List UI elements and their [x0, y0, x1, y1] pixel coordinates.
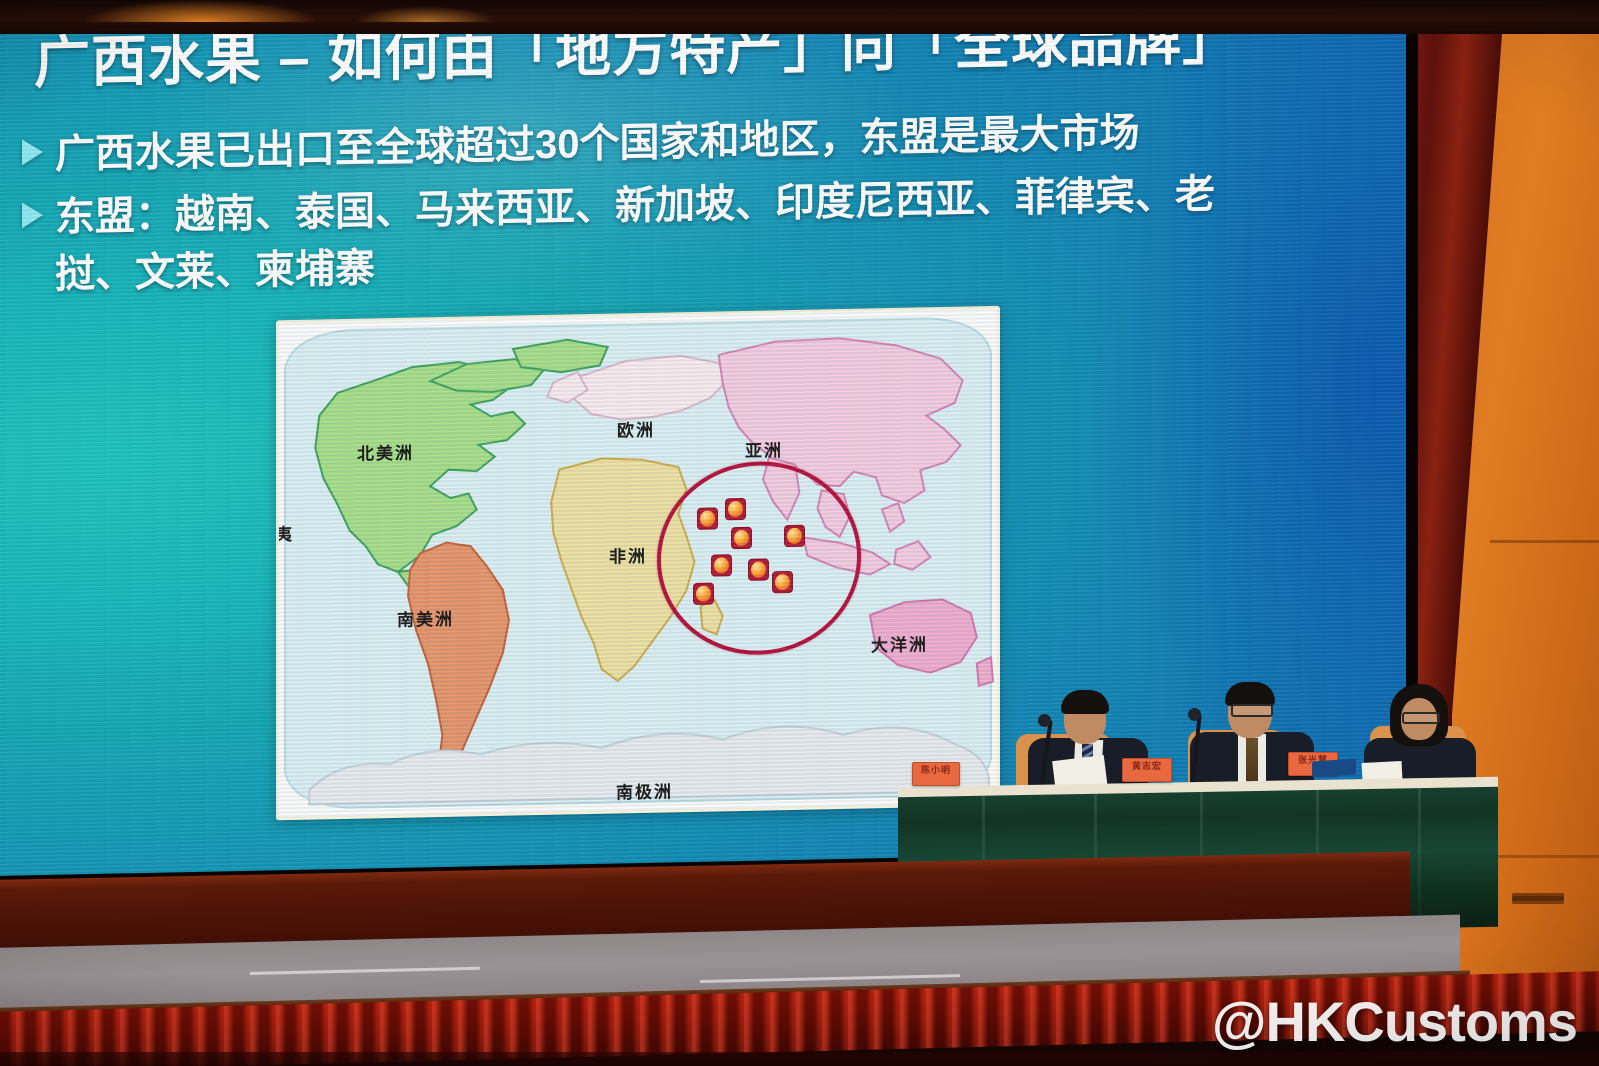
slide-bullet-list: 广西水果已出口至全球超过30个国家和地区，东盟是最大市场 东盟：越南、泰国、马来…	[22, 102, 1282, 310]
eyeglasses-icon	[1231, 704, 1273, 717]
name-placard: 黄志宏	[1122, 758, 1172, 782]
ceiling-light-glow	[356, 6, 496, 22]
fruit-marker	[697, 507, 718, 529]
speaker-hair	[1061, 690, 1109, 714]
map-label-africa: 非洲	[609, 542, 647, 568]
triangle-right-icon	[22, 202, 43, 228]
map-label-south-america: 南美洲	[397, 605, 454, 631]
map-label-europe: 欧洲	[617, 416, 655, 442]
fruit-marker	[748, 558, 769, 580]
triangle-right-icon	[22, 139, 43, 165]
fruit-marker	[784, 525, 805, 547]
name-placard: 陈小明	[912, 762, 960, 786]
map-label-north-america: 北美洲	[357, 439, 414, 465]
fruit-marker	[711, 554, 732, 576]
eyeglasses-icon	[1402, 712, 1440, 724]
ceiling-light-glow	[86, 0, 316, 22]
placard-text: 黄志宏	[1123, 759, 1171, 775]
stage-apron-shadow	[0, 1052, 1599, 1066]
fruit-marker	[725, 498, 746, 520]
wall-seam	[1490, 540, 1599, 543]
map-label-asia: 亚洲	[745, 436, 783, 462]
wall-seam-lower	[1490, 855, 1599, 858]
laptop-device	[1312, 758, 1356, 777]
photo-canvas: 广西水果 – 如何由「地方特产」向「全球品牌」 广西水果已出口至全球超过30个国…	[0, 0, 1599, 1066]
speaker-tie	[1246, 738, 1258, 784]
fruit-marker	[693, 583, 714, 605]
placard-text: 陈小明	[913, 763, 959, 779]
world-map-figure: 北美洲 夷 南美洲 欧洲 非洲 亚洲 大洋洲 南极洲	[276, 306, 1000, 821]
bullet-text: 东盟：越南、泰国、马来西亚、新加坡、印度尼西亚、菲律宾、老挝、文莱、柬埔寨	[55, 165, 1282, 303]
map-label-hawaii-partial: 夷	[279, 520, 294, 545]
world-map: 北美洲 夷 南美洲 欧洲 非洲 亚洲 大洋洲 南极洲	[279, 309, 997, 817]
speaker-hair	[1225, 682, 1275, 706]
watermark-text: @HKCustoms	[1212, 989, 1577, 1054]
wall-vent-grille	[1512, 893, 1564, 904]
fruit-marker	[731, 527, 752, 549]
microphone-head	[1038, 714, 1051, 727]
fruit-marker	[772, 571, 793, 593]
bullet-item: 东盟：越南、泰国、马来西亚、新加坡、印度尼西亚、菲律宾、老挝、文莱、柬埔寨	[22, 165, 1282, 304]
map-label-oceania: 大洋洲	[871, 630, 928, 656]
map-label-antarctica: 南极洲	[616, 777, 673, 803]
microphone-head	[1188, 708, 1201, 721]
